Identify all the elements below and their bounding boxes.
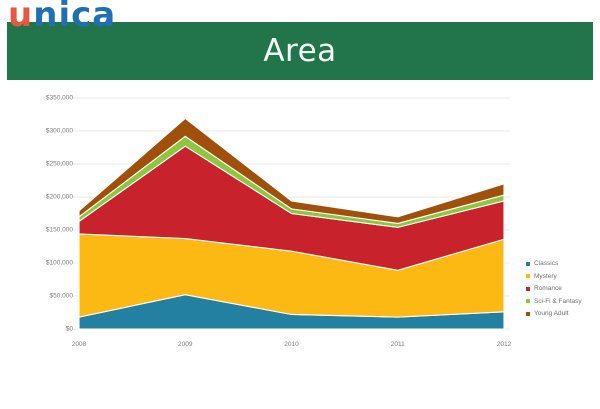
legend-swatch-icon <box>526 274 530 278</box>
x-axis-tick-label: 2009 <box>178 341 192 348</box>
x-axis-tick-label: 2008 <box>72 341 86 348</box>
x-axis-tick-label: 2011 <box>391 341 405 348</box>
x-axis-tick-label: 2012 <box>497 341 511 348</box>
legend-item-label: Mystery <box>534 273 557 280</box>
unica-logo: unica <box>8 0 116 32</box>
logo-letter-i: i <box>58 0 71 32</box>
logo-letter-c: c <box>71 0 92 35</box>
logo-letter-n: n <box>33 0 58 35</box>
slide-canvas: unica Area $0$50,000$100,000$150,000$200… <box>0 0 600 409</box>
logo-letter-u: u <box>8 0 33 35</box>
legend-swatch-icon <box>526 262 530 266</box>
legend-swatch-icon <box>526 299 530 303</box>
chart-legend: ClassicsMysteryRomanceSci-Fi & FantasyYo… <box>526 260 582 317</box>
x-axis-labels: 20082009201020112012 <box>7 86 593 367</box>
legend-item[interactable]: Mystery <box>526 273 582 280</box>
legend-item[interactable]: Romance <box>526 285 582 292</box>
legend-item[interactable]: Sci-Fi & Fantasy <box>526 298 582 305</box>
legend-item-label: Young Adult <box>534 310 568 317</box>
x-axis-tick-label: 2010 <box>284 341 298 348</box>
legend-item-label: Romance <box>534 285 562 292</box>
legend-swatch-icon <box>526 287 530 291</box>
legend-item[interactable]: Young Adult <box>526 310 582 317</box>
legend-item[interactable]: Classics <box>526 260 582 267</box>
chart-card: $0$50,000$100,000$150,000$200,000$250,00… <box>7 86 593 367</box>
legend-item-label: Sci-Fi & Fantasy <box>534 298 582 305</box>
legend-swatch-icon <box>526 312 530 316</box>
chart-plot-area: $0$50,000$100,000$150,000$200,000$250,00… <box>7 86 593 367</box>
logo-letter-a: a <box>92 0 116 35</box>
legend-item-label: Classics <box>534 260 558 267</box>
